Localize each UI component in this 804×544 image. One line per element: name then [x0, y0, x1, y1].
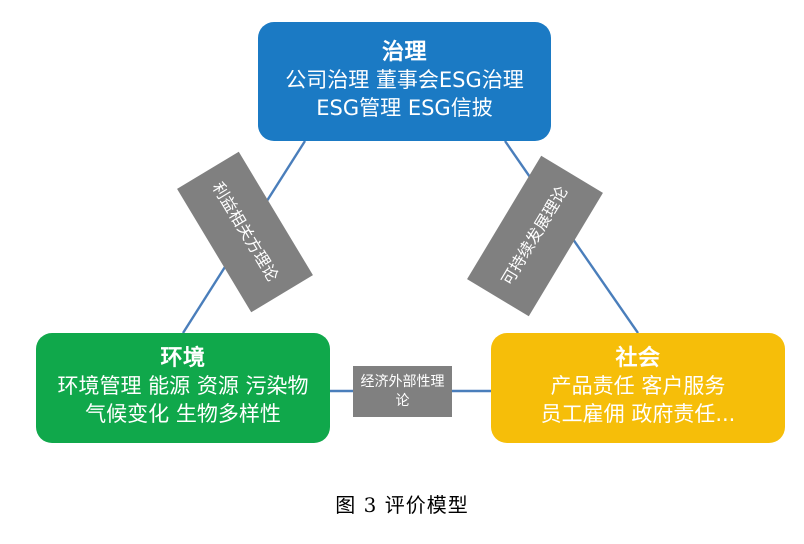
theory-label-economic-externality[interactable]: 经济外部性理论: [353, 366, 452, 417]
pillar-line-environment-1: 环境管理 能源 资源 污染物: [57, 373, 308, 401]
pillar-line-social-1: 产品责任 客户服务: [551, 373, 726, 401]
figure-caption: 图 3 评价模型: [0, 489, 804, 518]
pillar-title-governance: 治理: [382, 39, 427, 67]
pillar-box-social[interactable]: 社会 产品责任 客户服务 员工雇佣 政府责任...: [491, 333, 785, 443]
pillar-box-environment[interactable]: 环境 环境管理 能源 资源 污染物 气候变化 生物多样性: [36, 333, 330, 443]
pillar-line-governance-1: 公司治理 董事会ESG治理: [285, 67, 524, 95]
esg-evaluation-model-diagram: 治理 公司治理 董事会ESG治理 ESG管理 ESG信披 环境 环境管理 能源 …: [0, 0, 804, 544]
pillar-box-governance[interactable]: 治理 公司治理 董事会ESG治理 ESG管理 ESG信披: [258, 22, 551, 141]
pillar-line-governance-2: ESG管理 ESG信披: [316, 95, 492, 123]
pillar-line-social-2: 员工雇佣 政府责任...: [541, 401, 736, 429]
pillar-line-environment-2: 气候变化 生物多样性: [85, 401, 281, 429]
pillar-title-environment: 环境: [160, 345, 205, 373]
theory-label-economic-externality-text: 经济外部性理论: [357, 373, 449, 409]
pillar-title-social: 社会: [615, 345, 660, 373]
